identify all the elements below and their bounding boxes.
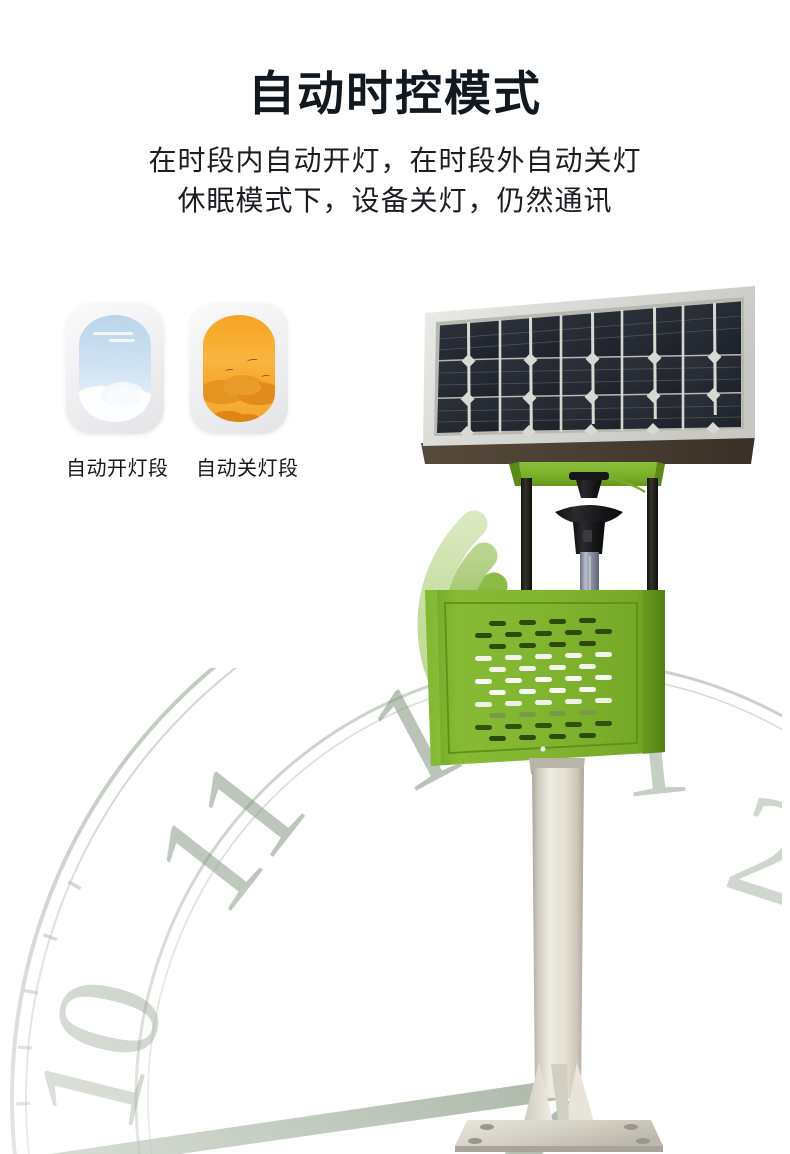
- mode-icon-label-auto-off: 自动关灯段: [196, 452, 299, 481]
- base-plate-edge: [455, 1146, 663, 1152]
- bolt-hole: [624, 1124, 638, 1130]
- sensor-port: [583, 530, 592, 542]
- bolt-hole: [636, 1138, 650, 1144]
- mode-icon-label-auto-on: 自动开灯段: [66, 452, 196, 481]
- subtitle-line-2: 休眠模式下，设备关灯，仍然通讯: [0, 182, 790, 222]
- box-latch-icon: [540, 746, 545, 751]
- solar-street-light-controller-illustration: [403, 272, 787, 1154]
- airplane-window-sunset-icon: [190, 303, 288, 434]
- header: 自动时控模式 在时段内自动开灯，在时段外自动关灯 休眠模式下，设备关灯，仍然通讯: [0, 68, 790, 222]
- mode-icon-labels: 自动开灯段 自动关灯段: [66, 452, 346, 481]
- base-plate: [455, 1120, 663, 1146]
- sensor-collar: [569, 472, 609, 480]
- day-window-glass: [79, 315, 151, 422]
- cloud-wisp: [93, 332, 133, 335]
- mode-icons: [66, 303, 346, 434]
- square-mounting-base-plate-icon: [455, 1062, 663, 1152]
- airplane-window-day-icon: [66, 303, 164, 434]
- sunset-window-glass: [203, 315, 275, 422]
- solar-panel-icon: [421, 286, 755, 464]
- subtitle-group: 在时段内自动开灯，在时段外自动关灯 休眠模式下，设备关灯，仍然通讯: [0, 142, 790, 222]
- box-right-face: [643, 590, 665, 754]
- clock-numeral-11: 11: [120, 728, 337, 941]
- cloud: [107, 388, 141, 407]
- weather-sensor-probe-icon: [555, 472, 623, 600]
- subtitle-line-1: 在时段内自动开灯，在时段外自动关灯: [0, 142, 790, 182]
- page-title: 自动时控模式: [0, 68, 790, 123]
- islet: [237, 414, 259, 422]
- page-root: 12 11 10 9 1 2 自动时控模式 在时段内自动开灯，在时段外自动关灯 …: [0, 0, 790, 1154]
- mode-icon-row: 自动开灯段 自动关灯段: [66, 303, 346, 481]
- clock-numeral-10: 10: [2, 963, 197, 1146]
- ventilated-control-box-icon: [425, 572, 673, 766]
- vertical-pole-icon: [529, 758, 585, 1098]
- bolt-hole: [480, 1124, 494, 1130]
- bolt-hole: [468, 1138, 482, 1144]
- pole-shaft: [532, 768, 584, 1098]
- support-post-right: [647, 478, 658, 594]
- cloud: [231, 379, 261, 395]
- cloud-wisp: [109, 339, 135, 342]
- support-post-left: [521, 478, 532, 594]
